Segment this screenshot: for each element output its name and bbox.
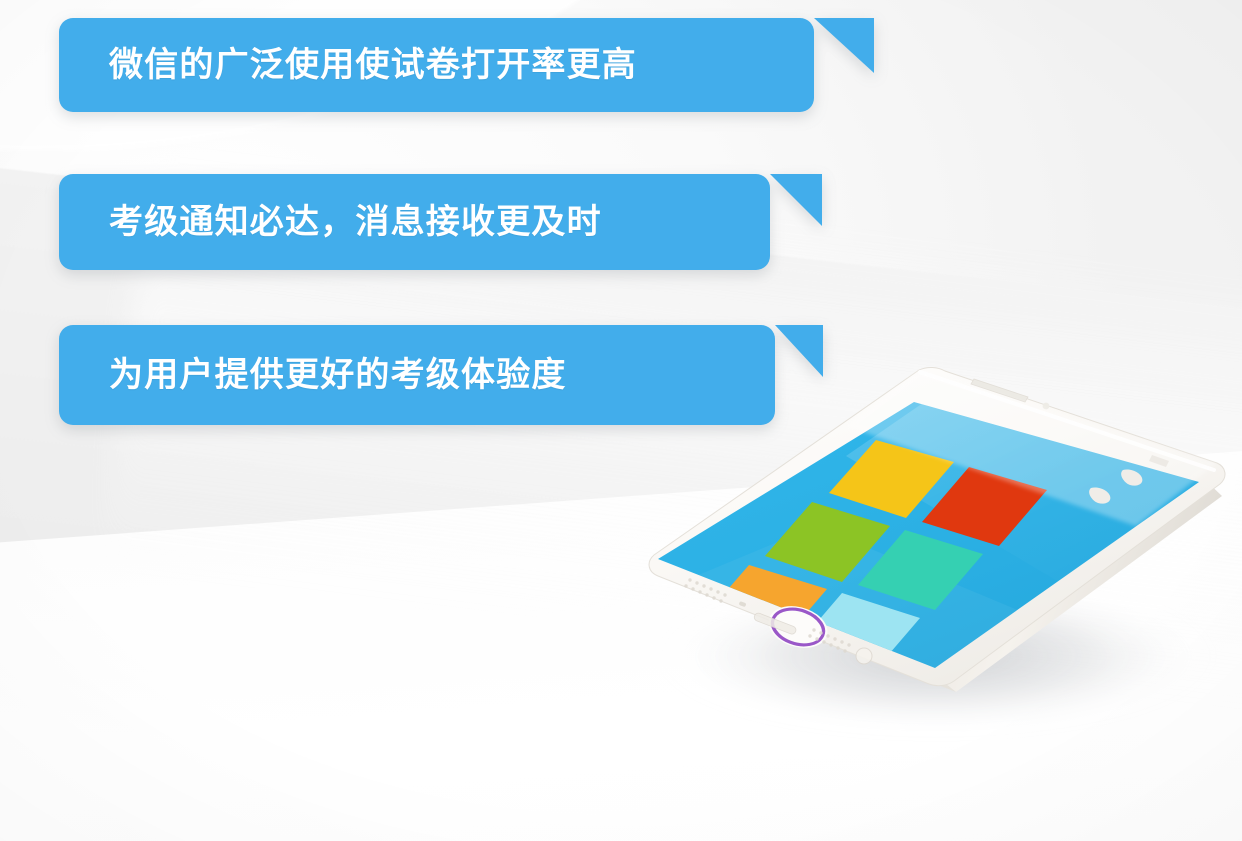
speech-bubble-2-tail bbox=[770, 174, 822, 226]
speech-bubble-1[interactable]: 微信的广泛使用使试卷打开率更高 bbox=[59, 18, 814, 112]
poster-canvas: 微信的广泛使用使试卷打开率更高 考级通知必达，消息接收更及时 为用户提供更好的考… bbox=[0, 0, 1242, 841]
speech-bubble-1-body: 微信的广泛使用使试卷打开率更高 bbox=[59, 18, 814, 112]
speech-bubble-2-text: 考级通知必达，消息接收更及时 bbox=[109, 205, 602, 239]
speech-bubble-2-body: 考级通知必达，消息接收更及时 bbox=[59, 174, 770, 270]
speech-bubble-3-text: 为用户提供更好的考级体验度 bbox=[109, 358, 567, 392]
front-camera-icon bbox=[1043, 403, 1050, 410]
speech-bubble-1-text: 微信的广泛使用使试卷打开率更高 bbox=[109, 48, 637, 82]
speech-bubble-2[interactable]: 考级通知必达，消息接收更及时 bbox=[59, 174, 770, 270]
speech-bubble-1-tail bbox=[814, 18, 874, 73]
headphone-jack-icon bbox=[856, 648, 872, 664]
speech-bubble-3-body: 为用户提供更好的考级体验度 bbox=[59, 325, 775, 425]
speech-bubble-3-tail bbox=[775, 325, 823, 377]
speech-bubble-3[interactable]: 为用户提供更好的考级体验度 bbox=[59, 325, 775, 425]
